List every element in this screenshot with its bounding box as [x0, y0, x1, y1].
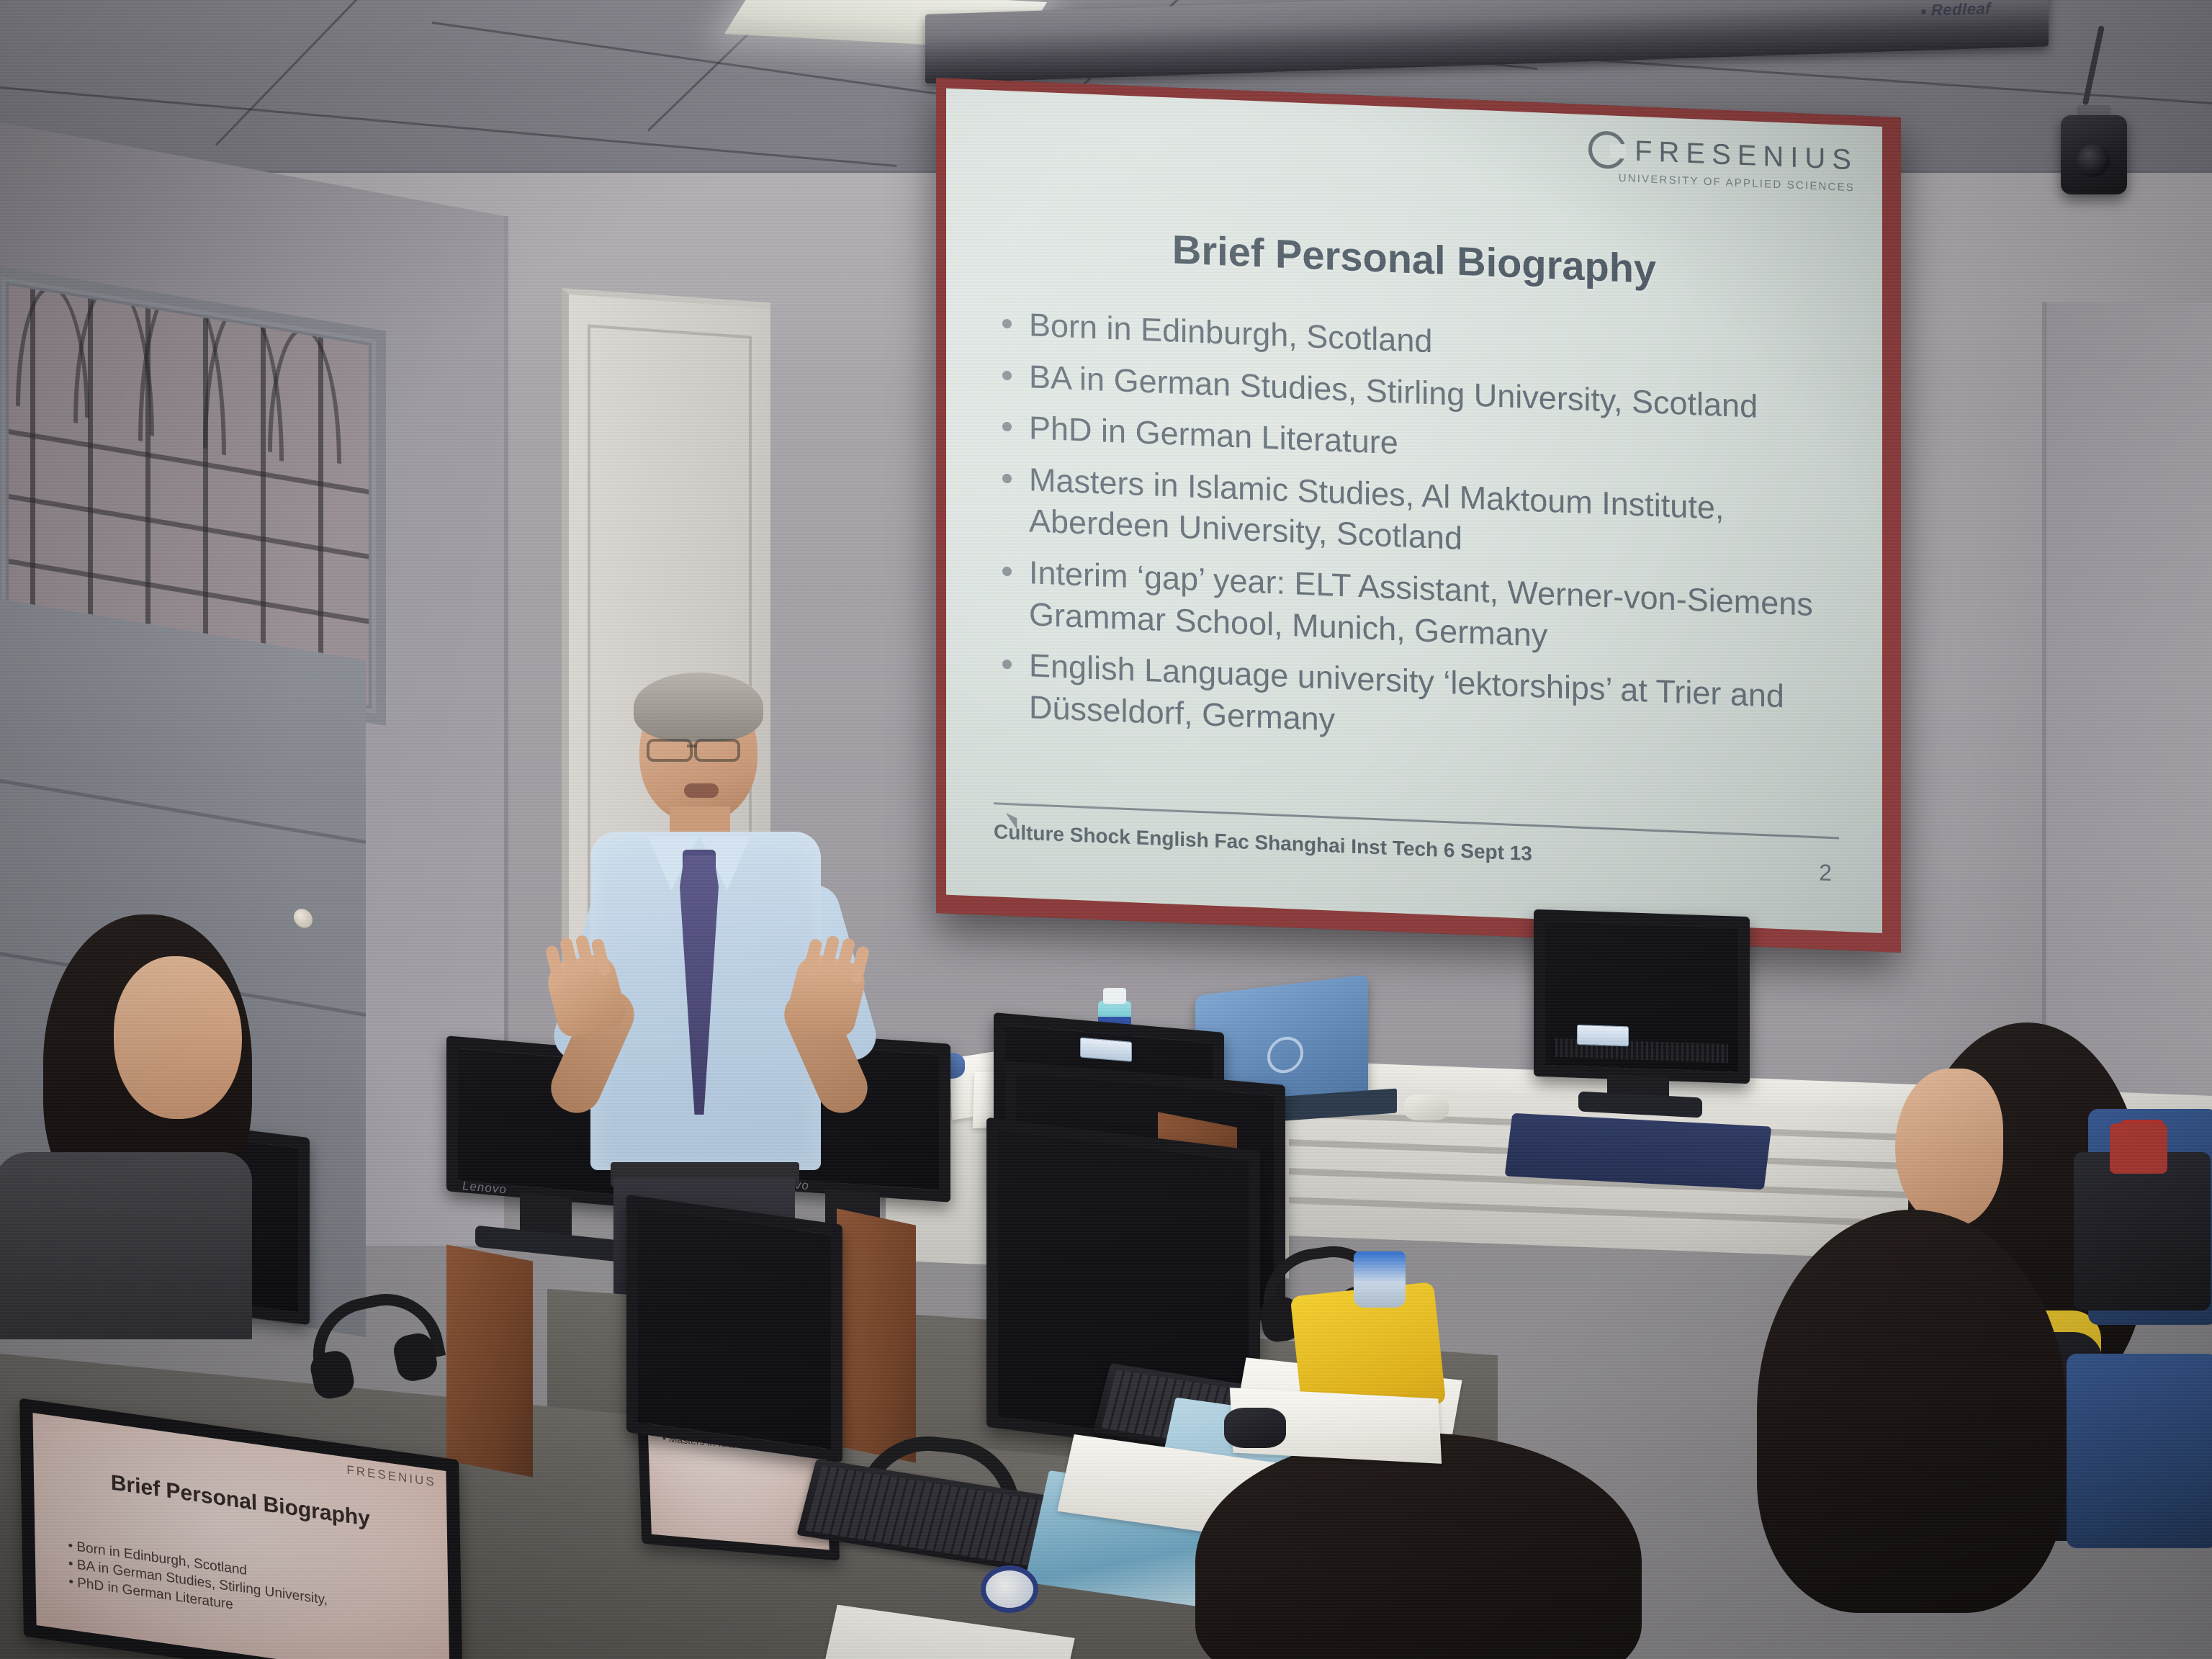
blue-cup — [1354, 1251, 1406, 1308]
fresenius-circle-mark — [1588, 130, 1626, 169]
mouse-white[interactable] — [1404, 1094, 1449, 1120]
mousepad — [1505, 1113, 1772, 1190]
mirrored-slide-large: FRESENIUS Brief Personal Biography Born … — [32, 1413, 449, 1659]
red-object-right — [2110, 1123, 2167, 1174]
slide-title: Brief Personal Biography — [946, 217, 1882, 302]
student-hair — [1195, 1433, 1642, 1659]
student-left — [0, 914, 281, 1318]
mouse-foreground[interactable] — [1224, 1408, 1286, 1448]
bullet-dot-icon — [1002, 567, 1012, 577]
bullet-text: Born in Edinburgh, Scotland — [1029, 304, 1432, 362]
bullet-dot-icon — [1002, 370, 1012, 380]
student-torso — [0, 1152, 252, 1339]
bullet-dot-icon — [1002, 422, 1012, 432]
student-foreground — [1195, 1433, 1642, 1659]
student-hair — [1757, 1210, 2067, 1613]
bullet-dot-icon — [1002, 319, 1012, 329]
projection-screen: FRESENIUS UNIVERSITY OF APPLIED SCIENCES… — [936, 78, 1901, 953]
logo-wordmark: FRESENIUS — [1635, 135, 1858, 176]
fresenius-logo: FRESENIUS UNIVERSITY OF APPLIED SCIENCES — [1588, 130, 1858, 194]
camera-lens-icon — [2077, 144, 2110, 177]
bag — [2074, 1152, 2211, 1310]
presenter — [547, 670, 886, 1267]
presenter-mouth — [684, 783, 719, 798]
wall-seam-right — [2042, 302, 2046, 1094]
bullet-dot-icon — [1002, 474, 1012, 484]
screen-brand-label: Redleaf — [1921, 0, 1991, 20]
classroom-photo: Redleaf FRESENIUS UNIVERSITY OF APPLIED … — [0, 0, 2212, 1659]
wall-seam — [504, 216, 508, 1080]
teacher-monitor[interactable] — [1534, 909, 1750, 1084]
student-monitor[interactable] — [626, 1195, 842, 1462]
desk-wood-panel — [446, 1244, 533, 1477]
mirror-logo: FRESENIUS — [346, 1463, 436, 1491]
bullet-text: PhD in German Literature — [1029, 407, 1398, 464]
desk-wood-panel — [837, 1208, 916, 1462]
glasses-icon — [694, 739, 740, 762]
monitor-sticker — [1577, 1025, 1629, 1047]
presentation-slide: FRESENIUS UNIVERSITY OF APPLIED SCIENCES… — [946, 89, 1882, 933]
slide-bullet-list: Born in Edinburgh, Scotland BA in German… — [1002, 303, 1832, 771]
student-right-rear — [1757, 1123, 2103, 1659]
student-face — [114, 956, 242, 1119]
slide-footer-text: Culture Shock English Fac Shanghai Inst … — [994, 820, 1532, 866]
slide-page-number: 2 — [1819, 859, 1832, 886]
chair[interactable] — [2067, 1354, 2212, 1548]
presenter-hair — [634, 673, 763, 742]
badge-disc — [981, 1565, 1038, 1613]
glasses-bridge — [687, 745, 697, 747]
bottle-cap — [1103, 988, 1126, 1004]
glasses-icon — [647, 739, 693, 762]
bullet-dot-icon — [1002, 660, 1012, 670]
